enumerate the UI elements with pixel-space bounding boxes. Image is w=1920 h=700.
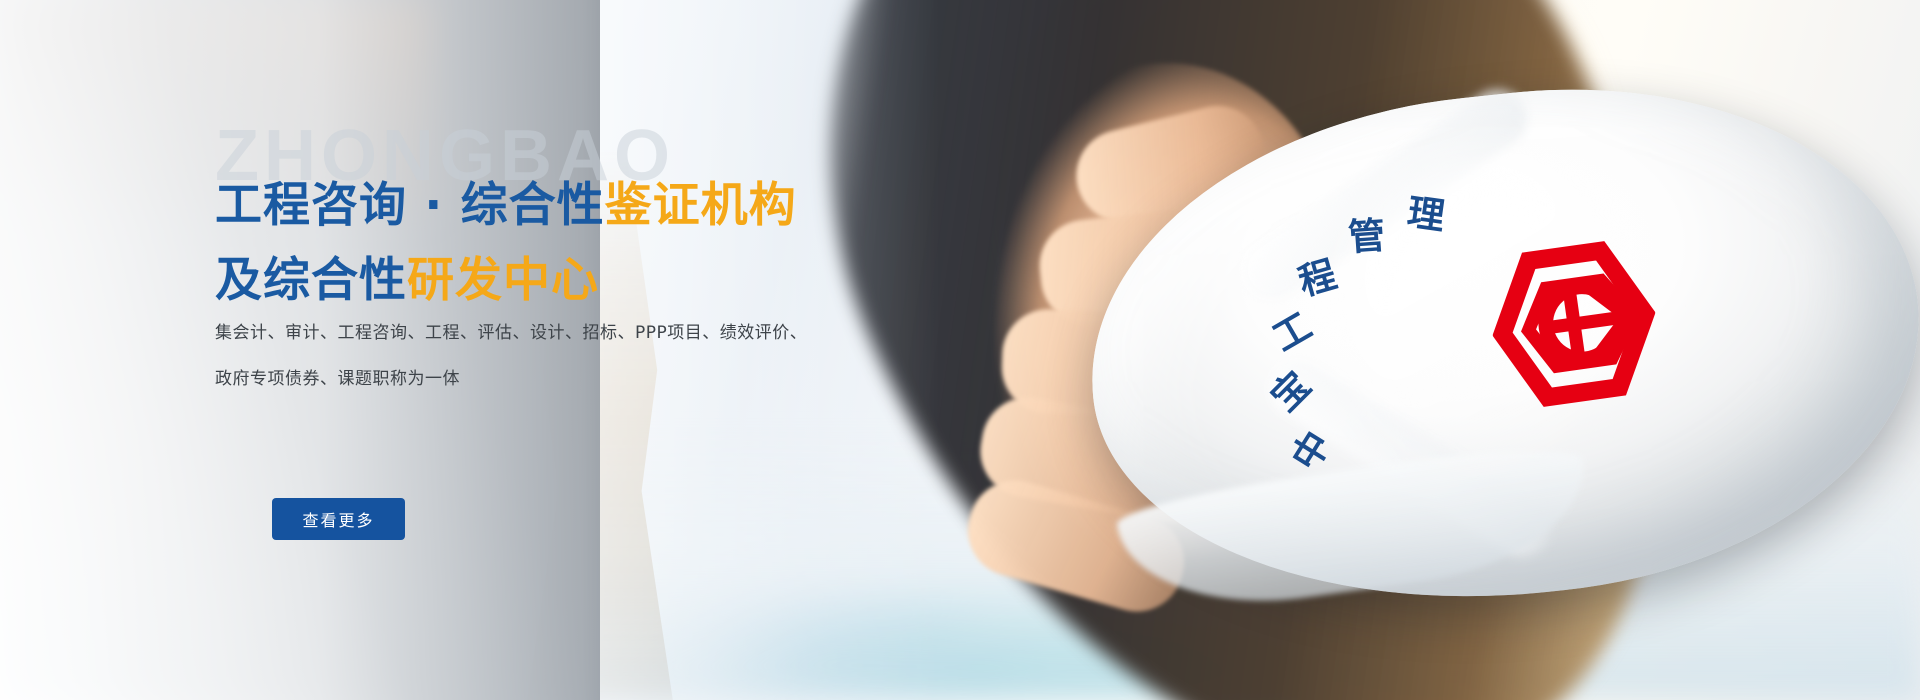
headline-line1-blue: 工程咨询 · 综合性: [215, 178, 605, 233]
hard-hat-char: 程: [1291, 244, 1341, 306]
description-line-2: 政府专项债券、课题职称为一体: [215, 356, 807, 402]
zhongbao-hexagon-logo-icon: [1481, 231, 1666, 416]
hero-description: 集会计、审计、工程咨询、工程、评估、设计、招标、PPP项目、绩效评价、 政府专项…: [215, 310, 807, 402]
headline-line-1: 工程咨询 · 综合性鉴证机构: [215, 168, 797, 243]
hero-banner: 中 宝 工 程 管 理 ZHONGBAO 工程咨询 · 综合性鉴证机构: [0, 0, 1920, 700]
hard-hat-char: 中: [1276, 419, 1341, 479]
headline-line2-orange: 研发中心: [407, 253, 599, 308]
description-line-1: 集会计、审计、工程咨询、工程、评估、设计、招标、PPP项目、绩效评价、: [215, 310, 807, 356]
hard-hat-char: 宝: [1256, 357, 1320, 421]
headline-line2-blue: 及综合性: [215, 253, 407, 308]
hard-hat-char: 理: [1404, 182, 1448, 241]
headline-line-2: 及综合性研发中心: [215, 243, 797, 318]
headline-line1-orange: 鉴证机构: [605, 178, 797, 233]
hard-hat-char: 工: [1261, 296, 1320, 361]
view-more-button[interactable]: 查看更多: [272, 498, 405, 540]
hard-hat-char: 管: [1346, 205, 1387, 261]
hero-headline: 工程咨询 · 综合性鉴证机构 及综合性研发中心: [215, 168, 797, 318]
